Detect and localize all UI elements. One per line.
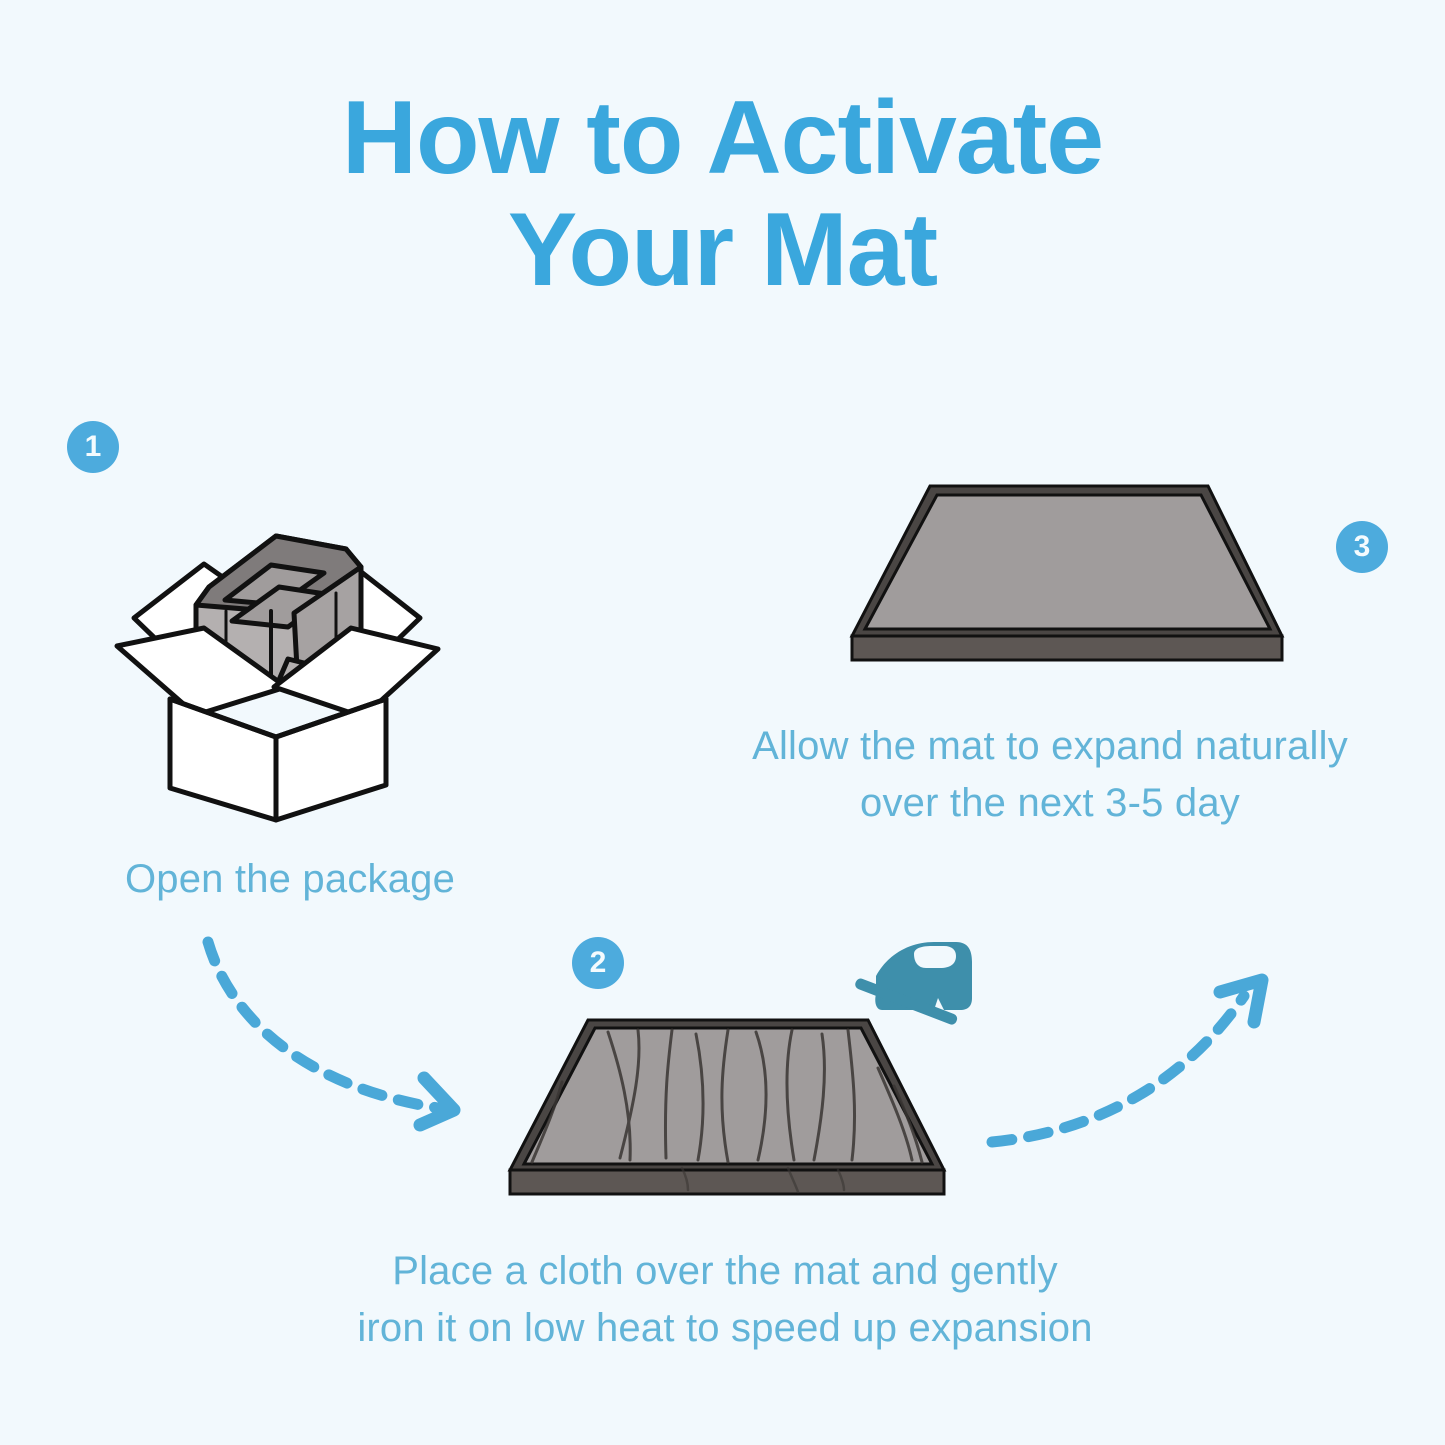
flow-arrow-1 (162, 928, 486, 1140)
step-3-caption: Allow the mat to expand naturally over t… (660, 718, 1440, 832)
step-badge-2: 2 (572, 937, 624, 989)
step-badge-3: 3 (1336, 521, 1388, 573)
step-badge-1: 1 (67, 421, 119, 473)
expanded-mat-illustration (832, 468, 1304, 680)
open-box-illustration (108, 487, 438, 822)
dashed-curved-arrow-down-right-icon (162, 928, 486, 1140)
mat-icon (492, 1008, 964, 1228)
infographic-canvas: How to Activate Your Mat 1 (0, 0, 1445, 1445)
title-line-2: Your Mat (0, 194, 1445, 306)
dashed-curved-arrow-up-right-icon (978, 958, 1282, 1162)
page-title: How to Activate Your Mat (0, 82, 1445, 307)
step-1-caption: Open the package (40, 851, 540, 908)
mat-with-cloth-illustration (492, 1008, 964, 1228)
cardboard-box-icon (108, 487, 438, 822)
mat-icon (832, 468, 1304, 680)
step-2-caption: Place a cloth over the mat and gently ir… (250, 1243, 1200, 1357)
title-line-1: How to Activate (0, 82, 1445, 194)
flow-arrow-2 (978, 958, 1282, 1162)
